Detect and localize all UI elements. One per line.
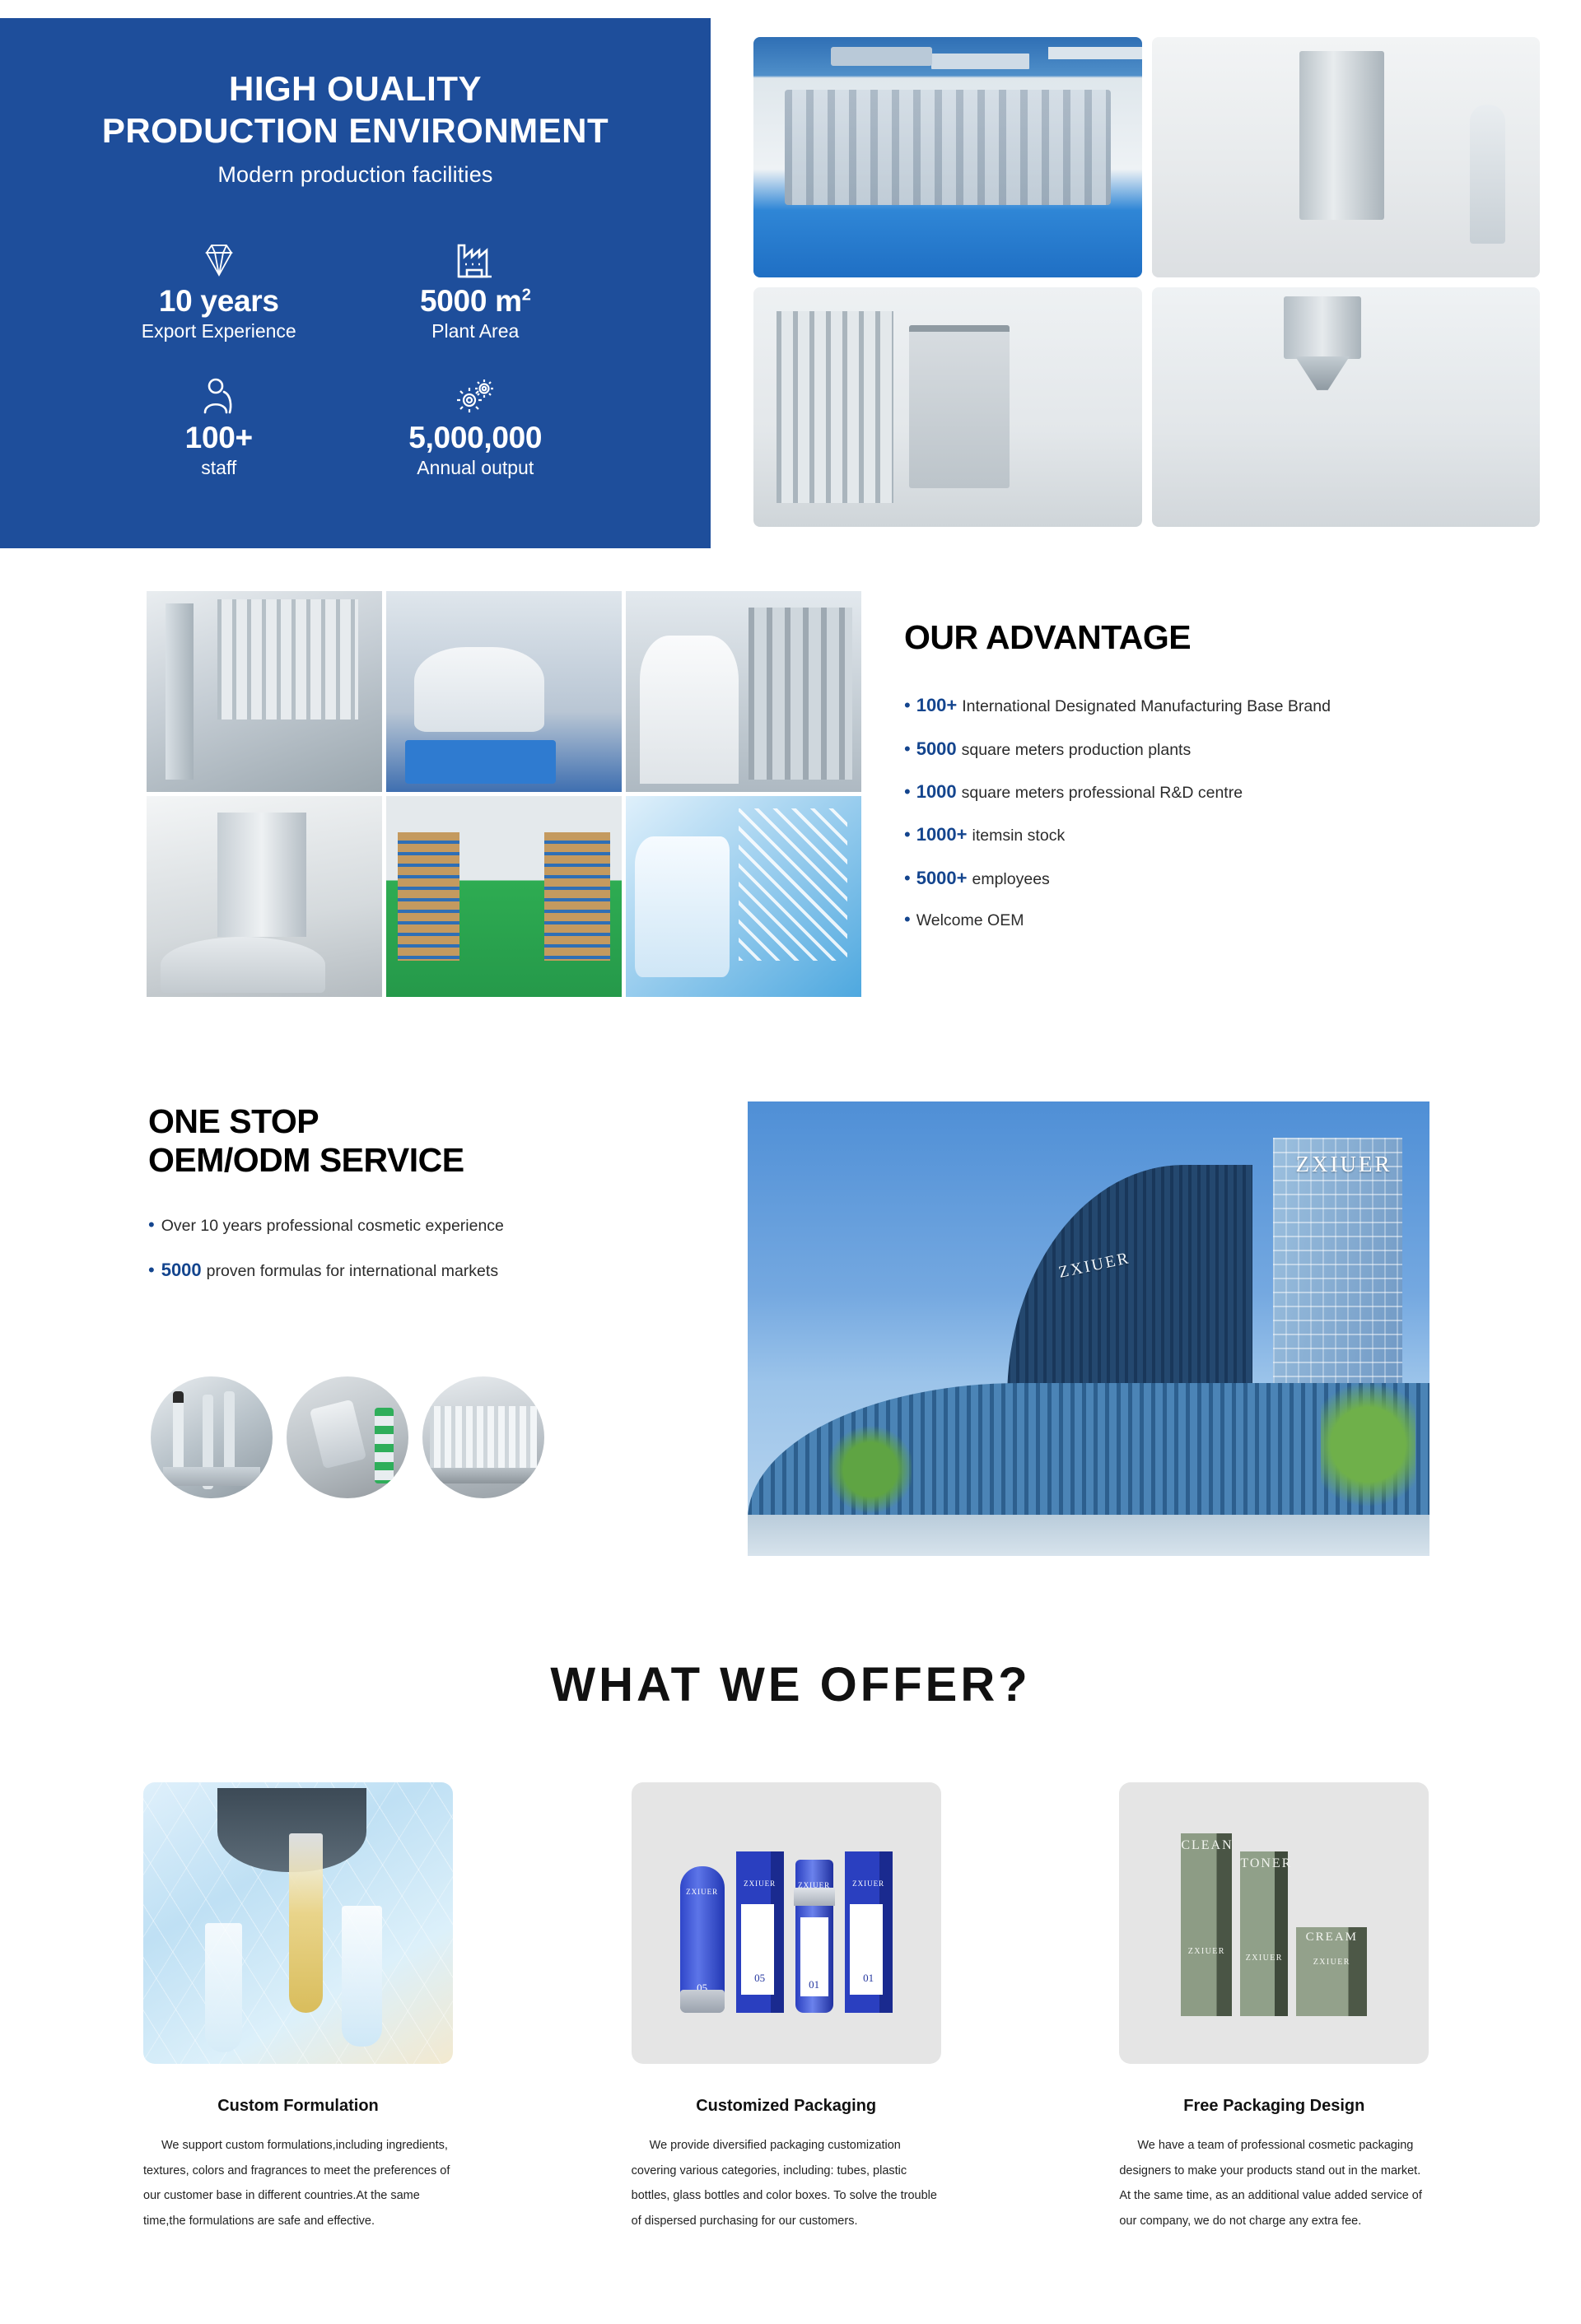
tree-icon [1321, 1383, 1416, 1520]
card-title: Customized Packaging [632, 2097, 941, 2116]
list-item: • 5000 square meters production plants [904, 738, 1555, 760]
product-word-label: CREAM [1296, 1930, 1367, 1944]
photo-assembly-line-workers [386, 591, 622, 792]
building-curved-facade [1007, 1165, 1252, 1419]
photo-zxiuer-headquarters-building: ZXIUER ZXIUER [748, 1101, 1429, 1556]
offer-card-custom-formulation[interactable]: Custom Formulation We support custom for… [143, 1782, 453, 2234]
list-item: • 100+ International Designated Manufact… [904, 695, 1555, 716]
card-body: We have a team of professional cosmetic … [1119, 2133, 1429, 2234]
list-item: • 5000+ employees [904, 868, 1555, 889]
product-tube-05: ZXIUER 05 [680, 1866, 725, 2013]
product-brand-label: ZXIUER [795, 1881, 833, 1889]
list-item: • Welcome OEM [904, 911, 1555, 930]
product-box-clean: CLEAN ZXIUER [1181, 1833, 1232, 2016]
onestop-list: • Over 10 years professional cosmetic ex… [148, 1216, 741, 1281]
hero-banner: HIGH OUALITY PRODUCTION ENVIRONMENT Mode… [0, 18, 711, 548]
photo-technician-at-mixing-tank [626, 591, 861, 792]
bullet-dot: • [904, 696, 911, 715]
stat-label: Plant Area [347, 320, 604, 342]
list-item-number: 1000+ [916, 824, 968, 845]
stat-value: 10 years [91, 285, 347, 319]
stat-staff: 100+ staff [91, 370, 347, 479]
person-icon [91, 370, 347, 417]
card-title: Custom Formulation [143, 2097, 453, 2116]
list-item-number: 100+ [916, 695, 958, 716]
card-image-lab-test-tube [143, 1782, 453, 2064]
building-logo-top: ZXIUER [1295, 1152, 1392, 1177]
photo-flow-meter-rack [151, 1376, 273, 1498]
bullet-dot: • [904, 783, 911, 801]
advantage-section: OUR ADVANTAGE • 100+ International Desig… [904, 619, 1555, 952]
list-item-number: 5000 [916, 738, 957, 760]
photo-warehouse-storage-racks [386, 796, 622, 997]
list-item-number: 5000 [161, 1260, 202, 1281]
list-item-text: Welcome OEM [916, 911, 1024, 930]
product-number-label: 05 [736, 1972, 784, 1985]
hero-title-line1: HIGH OUALITY [33, 68, 678, 109]
product-box-05: ZXIUER 05 [736, 1851, 784, 2013]
diamond-icon [91, 234, 347, 280]
product-number-label: 01 [845, 1972, 893, 1985]
photo-bottle-filling-line [422, 1376, 544, 1498]
building-plaza [748, 1515, 1429, 1556]
list-item-text: itemsin stock [972, 827, 1066, 845]
list-item: • 1000 square meters professional R&D ce… [904, 781, 1555, 803]
factory-icon [347, 234, 604, 280]
photo-water-purification-system [147, 591, 382, 792]
stat-value: 100+ [91, 421, 347, 455]
tree-icon [829, 1424, 911, 1515]
stat-value: 5000 m2 [347, 285, 604, 319]
stat-export-experience: 10 years Export Experience [91, 234, 347, 342]
bullet-dot: • [904, 826, 911, 844]
card-image-blue-packaging-set: ZXIUER 05 ZXIUER 05 ZXIUER 01 [632, 1782, 941, 2064]
list-item-text: square meters production plants [962, 741, 1192, 760]
product-brand-label: ZXIUER [680, 1888, 725, 1896]
photo-water-treatment-control-panel [753, 287, 1142, 528]
photo-filling-machine-closeup [147, 796, 382, 997]
product-row: ZXIUER 05 ZXIUER 05 ZXIUER 01 [632, 1782, 941, 2064]
product-brand-label: ZXIUER [845, 1879, 893, 1888]
card-body: We support custom formulations,including… [143, 2133, 453, 2234]
product-word-label: TONER [1240, 1856, 1288, 1871]
list-item-text: International Designated Manufacturing B… [962, 697, 1331, 716]
onestop-heading-line1: ONE STOP [148, 1103, 335, 1139]
offer-cards: Custom Formulation We support custom for… [143, 1782, 1457, 2234]
list-item-text: employees [972, 870, 1050, 889]
photo-cleanroom-machine-operator [1152, 37, 1541, 277]
product-number-label: 01 [795, 1978, 833, 1991]
test-tube-clear-right [342, 1906, 382, 2047]
test-tube-clear-left [205, 1923, 242, 2052]
advantage-heading: OUR ADVANTAGE [904, 619, 1207, 655]
offer-card-free-packaging-design[interactable]: CLEAN ZXIUER TONER ZXIUER CREAM ZXIUER F… [1119, 1782, 1429, 2234]
hero-subtitle: Modern production facilities [0, 162, 711, 188]
onestop-circle-photos [151, 1376, 544, 1498]
stat-label: Annual output [347, 457, 604, 479]
building-tower [1273, 1138, 1402, 1410]
stat-label: staff [91, 457, 347, 479]
bullet-dot: • [904, 869, 911, 887]
square-meter-sup: 2 [522, 286, 531, 305]
product-box-01: ZXIUER 01 [845, 1851, 893, 2013]
advantage-heading-text: OUR ADVANTAGE [904, 618, 1191, 656]
offer-section-title: WHAT WE OFFER? [0, 1657, 1581, 1712]
photo-filling-machine-hopper [1152, 287, 1541, 528]
list-item-text: square meters professional R&D centre [962, 784, 1243, 803]
photo-lab-pipette-dna [626, 796, 861, 997]
card-body: We provide diversified packaging customi… [632, 2133, 941, 2234]
product-brand-label: ZXIUER [1240, 1954, 1288, 1963]
onestop-heading-line2: OEM/ODM SERVICE [148, 1141, 741, 1180]
stat-label: Export Experience [91, 320, 347, 342]
product-number-label: 05 [680, 1982, 725, 1995]
list-item-number: 1000 [916, 781, 957, 803]
hero-title: HIGH OUALITY PRODUCTION ENVIRONMENT [0, 68, 711, 151]
stat-value: 5,000,000 [347, 421, 604, 455]
facility-photo-grid [753, 37, 1540, 527]
card-title: Free Packaging Design [1119, 2097, 1429, 2116]
list-item: • 1000+ itemsin stock [904, 824, 1555, 845]
card-image-green-boxes-set: CLEAN ZXIUER TONER ZXIUER CREAM ZXIUER [1119, 1782, 1429, 2064]
advantage-list: • 100+ International Designated Manufact… [904, 695, 1555, 930]
bullet-dot: • [148, 1216, 155, 1234]
list-item-number: 5000+ [916, 868, 968, 889]
list-item-text: Over 10 years professional cosmetic expe… [161, 1217, 504, 1236]
onestop-section: ONE STOP OEM/ODM SERVICE • Over 10 years… [148, 1103, 741, 1305]
bullet-dot: • [148, 1261, 155, 1279]
photo-production-hall-blue-floor [753, 37, 1142, 277]
list-item-text: proven formulas for international market… [207, 1262, 498, 1281]
bullet-dot: • [904, 911, 911, 929]
offer-card-customized-packaging[interactable]: ZXIUER 05 ZXIUER 05 ZXIUER 01 [632, 1782, 941, 2234]
list-item: • Over 10 years professional cosmetic ex… [148, 1216, 741, 1236]
onestop-heading-line1-text: ONE STOP [148, 1102, 319, 1140]
list-item: • 5000 proven formulas for international… [148, 1260, 741, 1281]
product-word-label: CLEAN [1181, 1838, 1232, 1853]
product-brand-label: ZXIUER [736, 1879, 784, 1888]
advantage-photo-collage [147, 591, 861, 997]
hero-stats-grid: 10 years Export Experience 5000 m2 Plant… [0, 234, 711, 478]
gears-icon [347, 370, 604, 417]
photo-capping-machine [287, 1376, 408, 1498]
product-row: CLEAN ZXIUER TONER ZXIUER CREAM ZXIUER [1119, 1782, 1429, 2064]
product-brand-label: ZXIUER [1296, 1958, 1367, 1967]
product-box-cream: CREAM ZXIUER [1296, 1927, 1367, 2016]
product-bottle-01: ZXIUER 01 [795, 1860, 833, 2013]
hero-title-line2: PRODUCTION ENVIRONMENT [33, 109, 678, 151]
marketing-page: HIGH OUALITY PRODUCTION ENVIRONMENT Mode… [0, 0, 1581, 2324]
product-brand-label: ZXIUER [1181, 1947, 1232, 1956]
bullet-dot: • [904, 740, 911, 758]
test-tube-amber [289, 1833, 323, 2014]
stat-annual-output: 5,000,000 Annual output [347, 370, 604, 479]
stat-plant-area: 5000 m2 Plant Area [347, 234, 604, 342]
product-box-toner: TONER ZXIUER [1240, 1851, 1288, 2016]
